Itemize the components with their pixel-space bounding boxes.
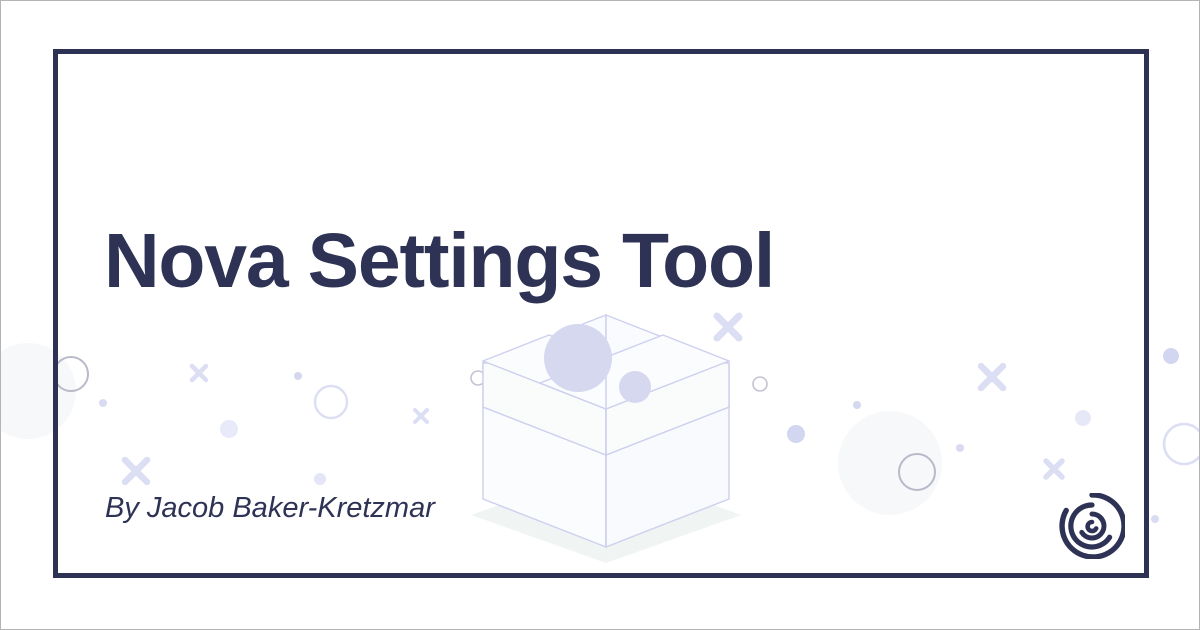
social-share-card: Nova Settings Tool By Jacob Baker-Kretzm… — [0, 0, 1200, 630]
ring-outline-icon — [1164, 424, 1200, 464]
page-title: Nova Settings Tool — [104, 223, 774, 300]
nova-spiral-logo — [1059, 493, 1125, 559]
dot-icon — [1163, 348, 1179, 364]
author-byline: By Jacob Baker-Kretzmar — [105, 494, 435, 523]
dot-icon — [1151, 515, 1159, 523]
